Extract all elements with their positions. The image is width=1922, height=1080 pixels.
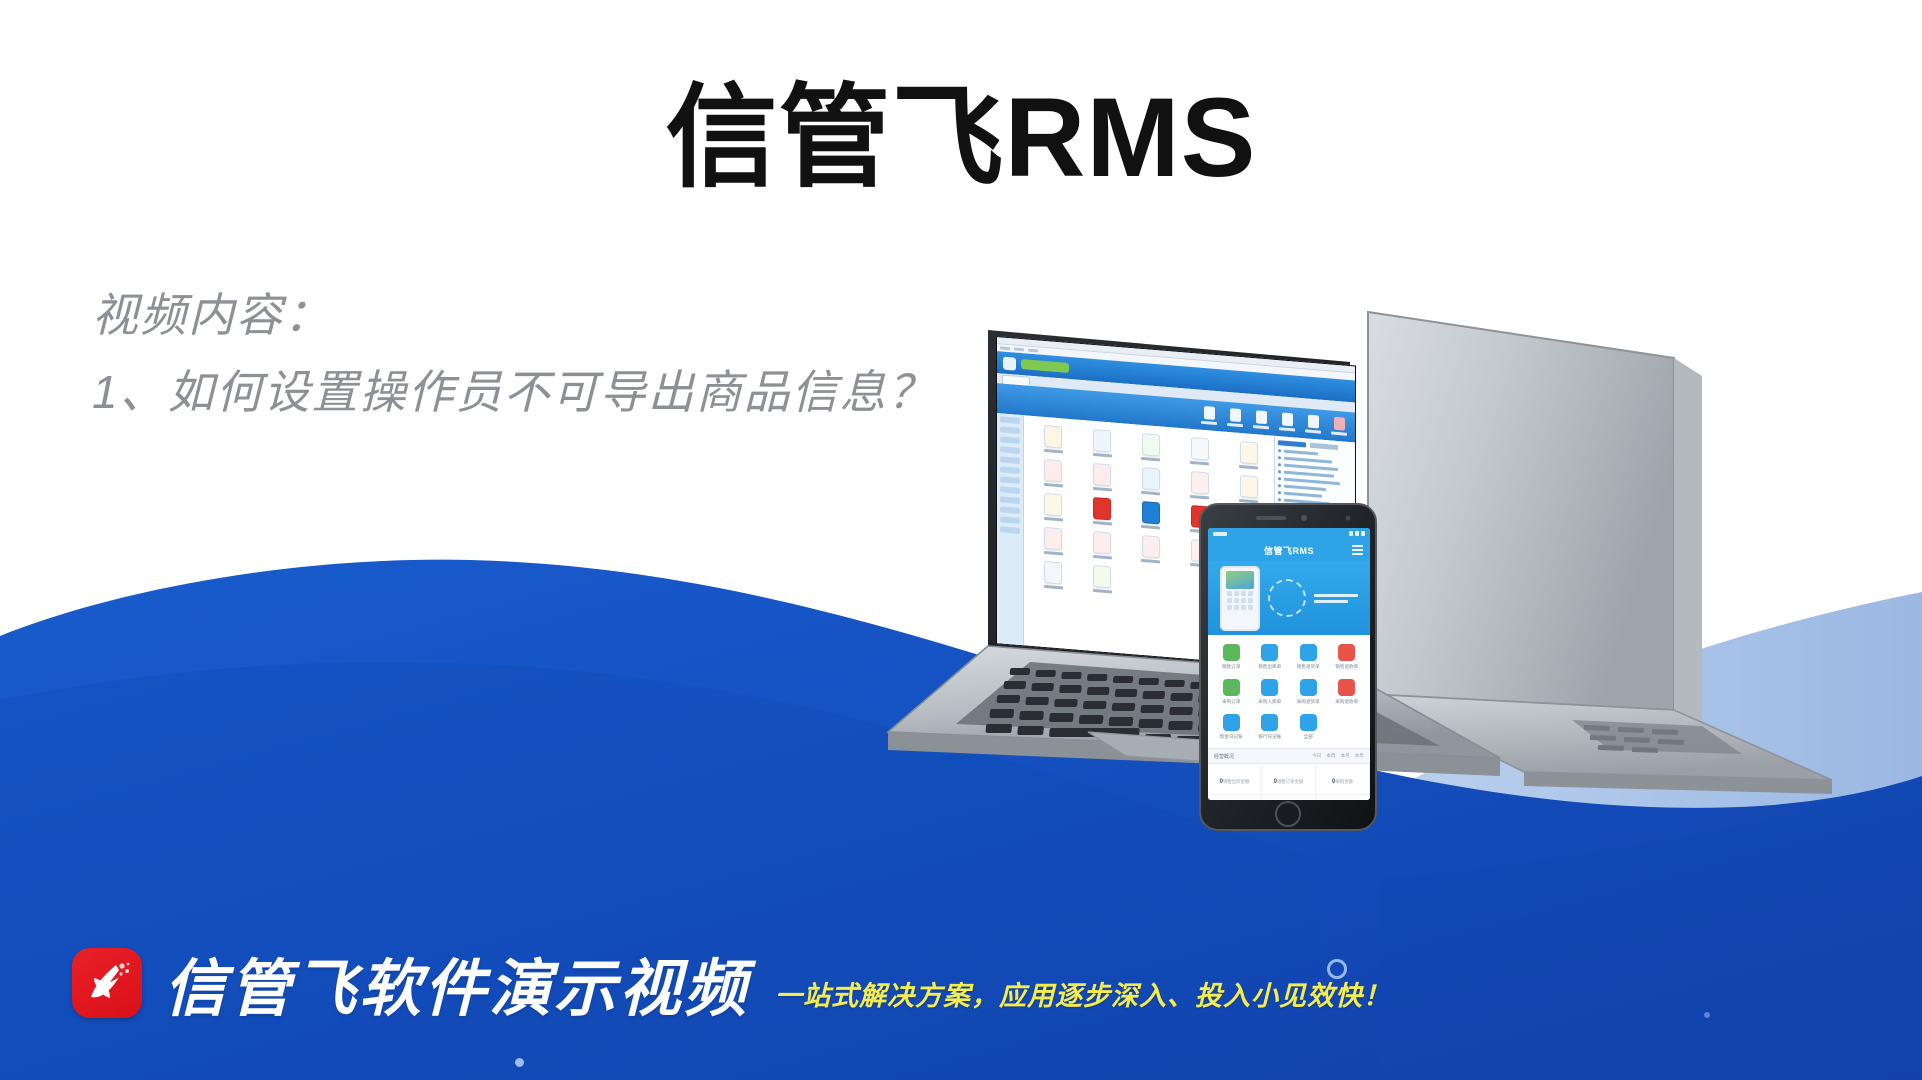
module-icon[interactable] [1130, 432, 1173, 463]
toolbar-edit-button[interactable] [1227, 408, 1243, 427]
presentation-slide: 信管飞RMS 视频内容： 1、如何设置操作员不可导出商品信息？ [0, 0, 1922, 1080]
module-icon[interactable] [1032, 458, 1075, 489]
edit-icon [1230, 408, 1241, 422]
stat-cell: 0销售订单金额 [1262, 764, 1316, 795]
signal-icon [1349, 531, 1353, 536]
filter-week[interactable]: 本周 [1326, 753, 1335, 759]
sidebar-item[interactable] [1000, 456, 1020, 464]
phone-screen: 信管飞RMS 销售订单 销售出库单 销售退货单 销售退款单 采购订单 [1208, 528, 1370, 800]
section-title: 经营概况 [1214, 753, 1234, 760]
export-icon [1308, 415, 1319, 429]
exit-icon [1334, 417, 1345, 431]
toolbar-new-button[interactable] [1201, 406, 1217, 425]
sidebar-item[interactable] [1000, 426, 1020, 434]
app-logo-icon [1003, 356, 1016, 370]
app-edition-badge [1021, 359, 1069, 373]
sidebar-item[interactable] [1000, 476, 1020, 484]
phone-grid-item[interactable]: 采购入库单 [1252, 679, 1289, 705]
module-icon[interactable] [1178, 470, 1221, 501]
filter-month[interactable]: 本月 [1341, 753, 1350, 759]
import-icon [1282, 412, 1293, 426]
new-icon [1204, 406, 1215, 420]
sidebar-item[interactable] [1000, 416, 1020, 424]
toolbar-exit-button[interactable] [1331, 416, 1347, 435]
phone-grid-item[interactable]: 采购退货单 [1290, 679, 1327, 705]
banner-caption [1314, 594, 1358, 603]
phone-function-grid[interactable]: 销售订单 销售出库单 销售退货单 销售退款单 采购订单 采购入库单 采购退货单 … [1208, 635, 1370, 748]
module-icon[interactable] [1081, 530, 1124, 561]
filter-today[interactable]: 今日 [1312, 753, 1321, 759]
module-icon[interactable] [1130, 466, 1173, 497]
xinguanfei-bird-logo-icon [72, 948, 142, 1018]
device-cluster: 信管飞RMS 销售订单 销售出库单 销售退货单 销售退款单 采购订单 [880, 300, 1922, 940]
phone-grid-item[interactable]: 采购退款单 [1329, 679, 1366, 705]
phone-statusbar [1208, 528, 1370, 539]
stat-cell: 0销售出库金额 [1208, 764, 1262, 795]
right-pane-tab-common[interactable] [1278, 440, 1306, 447]
phone-grid-item[interactable]: 销售退货单 [1290, 644, 1327, 670]
phone-grid-item[interactable]: 销售订单 [1213, 644, 1250, 670]
stat-cell: 0收款金额 [1208, 795, 1262, 800]
sidebar-item[interactable] [1000, 526, 1020, 534]
sidebar-item[interactable] [1000, 506, 1020, 514]
battery-icon [1361, 531, 1365, 536]
stat-cell: 0采购金额 [1316, 764, 1370, 795]
phone-grid-item[interactable]: 全部 [1290, 714, 1327, 740]
phone-mockup-illustration [1220, 566, 1260, 631]
banner-badge [1268, 579, 1306, 617]
sidebar-item[interactable] [1000, 496, 1020, 504]
toolbar-export-button[interactable] [1305, 414, 1321, 433]
module-icon[interactable] [1130, 534, 1173, 565]
phone-grid-item[interactable]: 销售退款单 [1329, 644, 1366, 670]
module-icon[interactable] [1032, 492, 1075, 523]
module-icon[interactable] [1032, 526, 1075, 557]
toolbar-delete-button[interactable] [1253, 410, 1269, 429]
module-icon[interactable] [1081, 428, 1124, 459]
module-icon[interactable] [1227, 474, 1270, 505]
menu-icon[interactable] [1352, 545, 1363, 555]
phone-stats-grid: 0销售出库金额 0销售订单金额 0采购金额 0收款金额 0付款金额 0利润金额 [1208, 764, 1370, 800]
module-icon[interactable] [1032, 424, 1075, 455]
phone-grid-item[interactable]: 销售出库单 [1252, 644, 1289, 670]
right-pane-tab-guide[interactable] [1310, 443, 1338, 450]
stat-cell: 0利润金额 [1316, 795, 1370, 800]
module-icon[interactable] [1032, 560, 1075, 591]
phone-app-header: 信管飞RMS [1208, 539, 1370, 561]
toolbar-import-button[interactable] [1279, 412, 1295, 431]
sidebar-item[interactable] [1000, 446, 1020, 454]
phone-grid-item[interactable]: 现金日记账 [1213, 714, 1250, 740]
module-icon[interactable] [1081, 564, 1124, 595]
phone-banner [1208, 561, 1370, 635]
menu-item[interactable] [1028, 349, 1038, 353]
filter-year[interactable]: 本年 [1355, 753, 1364, 759]
module-icon[interactable] [1130, 500, 1173, 531]
footer-brand-bar: 信管飞软件演示视频 一站式解决方案，应用逐步深入、投入小见效快！ [72, 938, 1391, 1028]
wifi-icon [1355, 531, 1359, 536]
module-icon[interactable] [1178, 436, 1221, 467]
menu-item[interactable] [1000, 346, 1010, 350]
phone-grid-item[interactable]: 采购订单 [1213, 679, 1250, 705]
app-sidebar[interactable] [997, 413, 1024, 646]
page-title: 信管飞RMS [0, 78, 1922, 199]
module-icon[interactable] [1227, 440, 1270, 471]
delete-icon [1256, 410, 1267, 424]
sidebar-item[interactable] [1000, 486, 1020, 494]
brand-title: 信管飞软件演示视频 [164, 938, 749, 1028]
menu-item[interactable] [1014, 347, 1024, 351]
decorative-dot [515, 1058, 524, 1067]
sidebar-item[interactable] [1000, 436, 1020, 444]
brand-tagline: 一站式解决方案，应用逐步深入、投入小见效快！ [775, 974, 1391, 1013]
sidebar-item[interactable] [1000, 516, 1020, 524]
stat-cell: 0付款金额 [1262, 795, 1316, 800]
phone-app-title: 信管飞RMS [1264, 544, 1314, 557]
clock [1213, 532, 1227, 536]
module-icon[interactable] [1081, 462, 1124, 493]
phone-section-header: 经营概况 今日 本周 本月 本年 [1208, 748, 1370, 764]
module-icon[interactable] [1081, 496, 1124, 527]
decorative-dot [1704, 1012, 1710, 1018]
phone-grid-item[interactable]: 银行日记账 [1252, 714, 1289, 740]
sidebar-item[interactable] [1000, 466, 1020, 474]
